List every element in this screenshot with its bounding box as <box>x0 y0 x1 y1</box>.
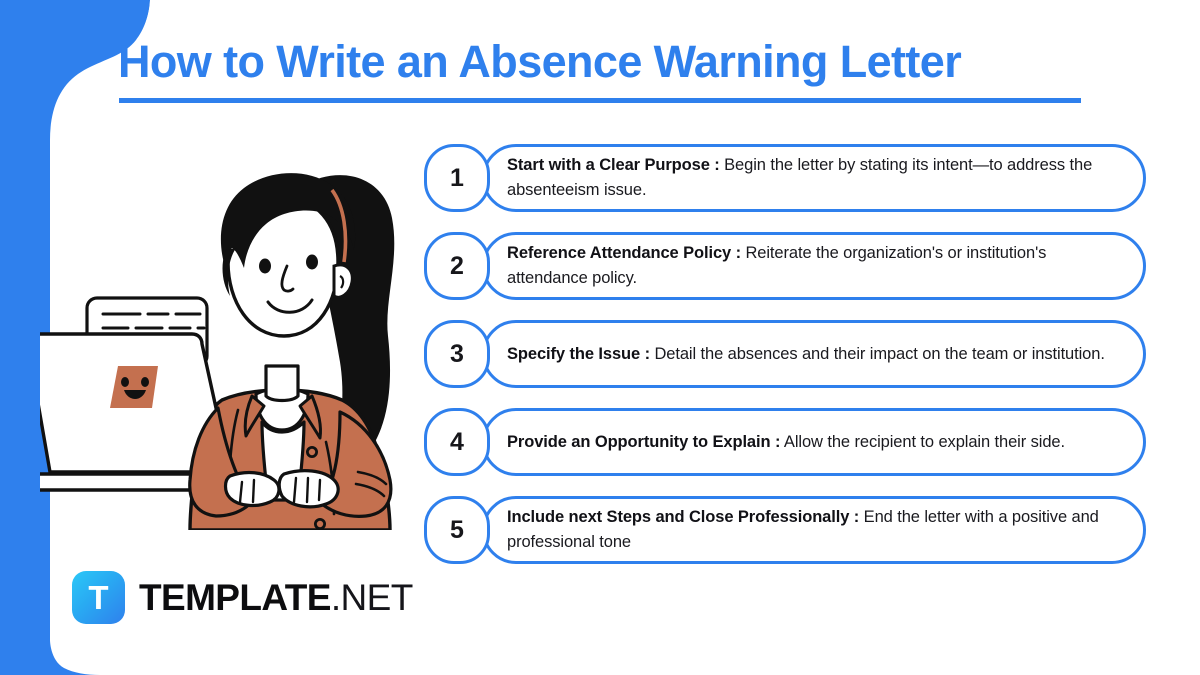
step-number-badge: 1 <box>424 144 490 212</box>
woman-typing-on-laptop-illustration <box>40 150 440 530</box>
step-number-badge: 3 <box>424 320 490 388</box>
page-title-container: How to Write an Absence Warning Letter <box>118 38 1084 85</box>
logo-mark-letter: T <box>88 581 108 614</box>
step-label: Provide an Opportunity to Explain : <box>507 433 780 451</box>
logo-brand-bold: TEMPLATE <box>139 577 331 618</box>
infographic-canvas: How to Write an Absence Warning Letter <box>0 0 1200 675</box>
step-card[interactable]: Specify the Issue : Detail the absences … <box>482 320 1146 388</box>
step-text: Reference Attendance Policy : Reiterate … <box>485 241 1143 291</box>
neck <box>266 366 298 401</box>
step-label: Reference Attendance Policy : <box>507 244 741 262</box>
laptop-smiley-sticker-icon <box>110 366 158 408</box>
step-description: Allow the recipient to explain their sid… <box>780 433 1065 451</box>
step-card[interactable]: Include next Steps and Close Professiona… <box>482 496 1146 564</box>
step-text: Include next Steps and Close Professiona… <box>485 505 1143 555</box>
step-description: Detail the absences and their impact on … <box>650 345 1105 363</box>
logo-brand-light: .NET <box>331 577 413 618</box>
step-number-badge: 5 <box>424 496 490 564</box>
step-row: 2 Reference Attendance Policy : Reiterat… <box>424 232 1146 300</box>
step-number-badge: 4 <box>424 408 490 476</box>
step-text: Start with a Clear Purpose : Begin the l… <box>485 153 1143 203</box>
eye-right <box>306 255 318 270</box>
step-label: Specify the Issue : <box>507 345 650 363</box>
page-title: How to Write an Absence Warning Letter <box>118 38 1084 85</box>
template-net-logo[interactable]: T TEMPLATE.NET <box>72 571 413 624</box>
step-text: Specify the Issue : Detail the absences … <box>485 342 1123 367</box>
step-row: 3 Specify the Issue : Detail the absence… <box>424 320 1146 388</box>
step-text: Provide an Opportunity to Explain : Allo… <box>485 430 1083 455</box>
step-row: 1 Start with a Clear Purpose : Begin the… <box>424 144 1146 212</box>
step-card[interactable]: Start with a Clear Purpose : Begin the l… <box>482 144 1146 212</box>
title-underline-rule <box>119 98 1081 103</box>
step-row: 4 Provide an Opportunity to Explain : Al… <box>424 408 1146 476</box>
step-row: 5 Include next Steps and Close Professio… <box>424 496 1146 564</box>
step-label: Include next Steps and Close Professiona… <box>507 508 859 526</box>
step-number-badge: 2 <box>424 232 490 300</box>
template-net-logo-icon: T <box>72 571 125 624</box>
step-card[interactable]: Reference Attendance Policy : Reiterate … <box>482 232 1146 300</box>
logo-wordmark: TEMPLATE.NET <box>139 579 413 616</box>
eye-left <box>259 259 271 274</box>
step-label: Start with a Clear Purpose : <box>507 156 720 174</box>
step-card[interactable]: Provide an Opportunity to Explain : Allo… <box>482 408 1146 476</box>
steps-list: 1 Start with a Clear Purpose : Begin the… <box>424 144 1146 584</box>
